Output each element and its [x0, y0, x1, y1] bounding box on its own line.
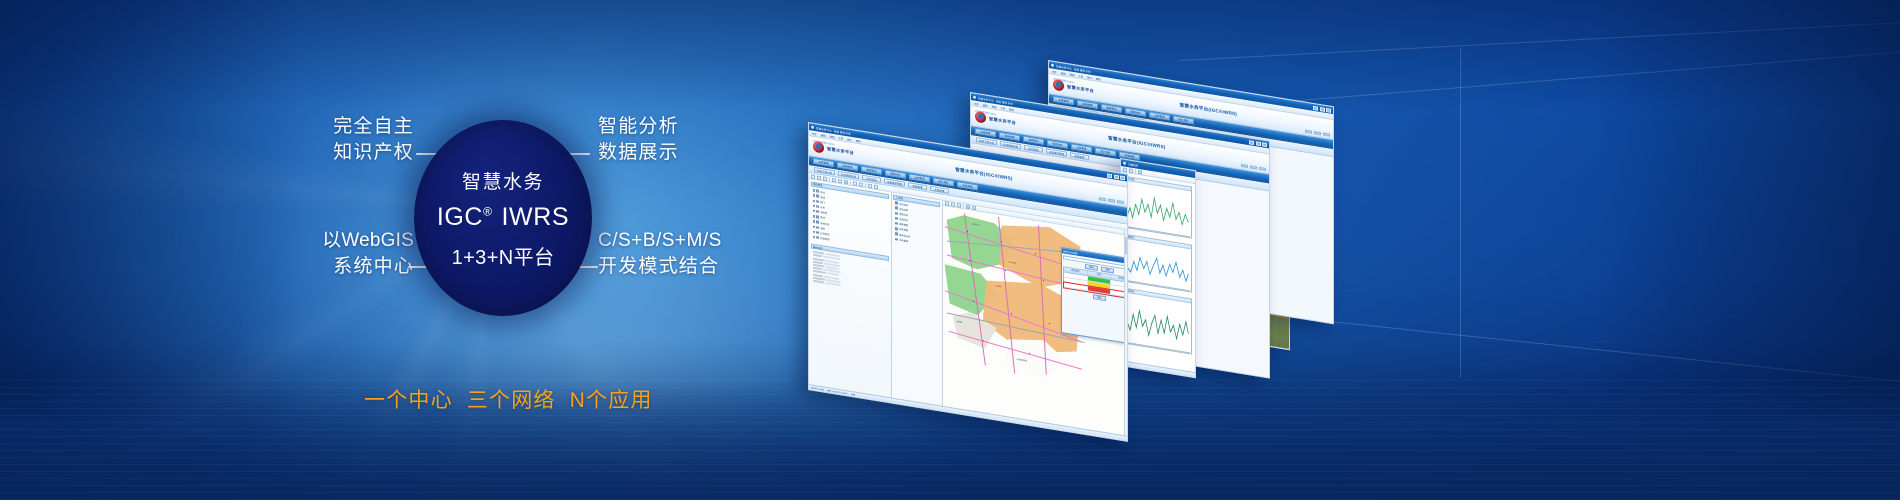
map-node[interactable] [969, 260, 970, 261]
quick-link-3[interactable] [1117, 200, 1124, 204]
layer-label: 道路 [820, 226, 825, 231]
feature-label-bottom-right-line1: C/S+B/S+M/S [598, 230, 722, 251]
expand-icon[interactable]: + [813, 215, 815, 218]
menu-item-window[interactable]: 窗口 [847, 137, 852, 142]
layer-swatch [816, 200, 819, 203]
maximize-icon[interactable] [1320, 106, 1325, 111]
quick-link-3[interactable] [1259, 167, 1266, 171]
tagline-part2: 三个网络 [467, 389, 556, 412]
refresh-icon[interactable] [1123, 167, 1127, 172]
platform-title: 智慧水务平台(IGC®IWRS) [955, 166, 1012, 181]
menu-item-help[interactable]: 帮助 [1096, 76, 1101, 81]
feature-label-bottom-left-line2: 系统中心 [286, 254, 414, 280]
expand-icon[interactable]: + [813, 236, 815, 239]
export-icon[interactable] [1138, 169, 1142, 174]
tagline: 一个中心三个网络N个应用 [364, 384, 653, 414]
menu-item-window[interactable]: 窗口 [1087, 75, 1092, 80]
layer-swatch [816, 231, 819, 234]
brand-code-iwrs: IWRS [502, 203, 570, 231]
map-node[interactable] [1049, 323, 1050, 324]
status-scale: 比例尺 1:5000 [811, 386, 824, 391]
expand-icon[interactable]: - [813, 189, 815, 192]
tool-icon [895, 217, 898, 220]
map-view[interactable]: 城东水厂 中心城区 工业园区 西环路 水源地保护区 爆管分析结果 × [943, 201, 1127, 442]
feature-label-top-right-line2: 数据展示 [598, 140, 679, 166]
quick-link-2[interactable] [1314, 131, 1321, 135]
platform-title: 智慧水务平台(IGC®IWRS) [1180, 102, 1237, 117]
tool-icon [895, 222, 898, 225]
platform-title-code: (IGC®IWRS) [984, 171, 1013, 181]
feature-label-bottom-right: C/S+B/S+M/S 开发模式结合 [598, 228, 722, 280]
toolbox-list[interactable]: 管点查询 管线追踪 爆管分析 连通分析 横断面图 纵断面图 缓冲区分析 空间量算 [893, 199, 940, 249]
quick-link-1[interactable] [1241, 164, 1248, 168]
quick-link-1[interactable] [1305, 130, 1312, 134]
map-pan-icon[interactable] [957, 203, 961, 208]
app-icon [811, 125, 814, 128]
brand-name-cn: 智慧水务 [462, 167, 544, 194]
menu-item-help[interactable]: 帮助 [856, 138, 861, 143]
map-highlight-icon[interactable] [972, 205, 976, 210]
redo-icon[interactable] [874, 184, 878, 189]
zoom-out-icon[interactable] [817, 175, 821, 180]
sparkline-3 [1127, 296, 1189, 352]
layer-label: 阀门 [820, 200, 825, 205]
menu-item-file[interactable]: 文件 [812, 131, 817, 136]
chart-quality-trend[interactable]: 属性信息 [1124, 288, 1192, 355]
menu-item-file[interactable]: 文件 [1052, 69, 1057, 74]
layer-swatch [816, 226, 819, 229]
tool-icon [895, 212, 898, 215]
brand-code-igc: IGC [437, 203, 483, 231]
menu-item-help[interactable]: 帮助 [1009, 107, 1014, 112]
map-node[interactable] [983, 340, 984, 341]
layer-label: 泵站 [820, 215, 825, 220]
map-label-westring: 西环路 [957, 320, 962, 324]
map-canvas[interactable]: 城东水厂 中心城区 工业园区 西环路 水源地保护区 爆管分析结果 × [943, 206, 1127, 442]
layer-swatch [816, 205, 819, 208]
layer-swatch [816, 195, 819, 198]
chart-quality-trend-plot [1125, 293, 1191, 354]
select-icon[interactable] [832, 177, 836, 182]
platform-title: 智慧水务平台(IGC®IWRS) [1108, 135, 1165, 150]
feature-label-top-left-line2: 知识产权 [298, 140, 414, 166]
brand-title-text: 智慧水务平台 [827, 146, 854, 156]
platform-title-name: 智慧水务平台 [955, 166, 984, 176]
tagline-part1: 一个中心 [364, 389, 453, 412]
expand-icon[interactable]: - [813, 220, 815, 223]
expand-icon[interactable]: + [813, 225, 815, 228]
layer-swatch [816, 210, 819, 213]
platform-title-code: (IGC®IWRS) [1208, 106, 1237, 116]
chart-window-statusbar: 就绪 [1121, 360, 1195, 377]
platform-title-name: 智慧水务平台 [1108, 135, 1137, 145]
confirm-button[interactable]: 确定 [1093, 294, 1106, 301]
layer-label: 水表 [820, 205, 825, 210]
undo-icon[interactable] [868, 183, 872, 188]
minimize-icon[interactable] [1107, 173, 1112, 178]
zoom-in-icon[interactable] [811, 174, 815, 179]
maximize-icon[interactable] [1114, 174, 1119, 179]
brand-code: IGC®IWRS [437, 203, 569, 232]
tool-icon [895, 227, 898, 230]
banner-root: 完全自主 知识产权 智能分析 数据展示 以WebGIS 系统中心 C/S+B/S… [0, 0, 1900, 500]
map-zoom-out-icon[interactable] [951, 202, 955, 207]
app-window-charts[interactable]: 流量趋势 瞬时流量 流量 [1120, 158, 1196, 378]
close-icon[interactable] [1326, 108, 1331, 113]
application-screenshot-stack: 智慧水务平台 [790, 50, 1350, 380]
brand-title-text: 智慧水务平台 [989, 116, 1016, 126]
tool-icon [895, 238, 898, 241]
print-icon[interactable] [1129, 168, 1133, 173]
platform-title-code: (IGC®IWRS) [1137, 140, 1166, 150]
map-node[interactable] [1029, 353, 1030, 354]
feature-label-top-right: 智能分析 数据展示 [598, 114, 679, 166]
identify-icon[interactable] [859, 182, 863, 187]
app-icon [973, 95, 976, 98]
minimize-icon[interactable] [1249, 140, 1254, 145]
feature-label-bottom-left: 以WebGIS 系统中心 [286, 228, 414, 280]
tool-label: 空间量算 [899, 238, 908, 243]
layer-swatch [816, 190, 819, 193]
feature-label-bottom-right-line2: 开发模式结合 [598, 254, 722, 280]
brand-quick-links[interactable] [1241, 164, 1266, 171]
maximize-icon[interactable] [1256, 141, 1261, 146]
map-node[interactable] [1001, 241, 1002, 242]
feature-label-top-right-line1: 智能分析 [598, 116, 679, 137]
menu-item-tools[interactable]: 工具 [1000, 105, 1005, 110]
quick-link-3[interactable] [1323, 133, 1330, 137]
sparkline-2 [1127, 242, 1189, 290]
status-ready: 就绪 [851, 392, 855, 396]
tagline-part3: N个应用 [570, 389, 653, 412]
feature-label-top-left-line1: 完全自主 [333, 116, 414, 137]
layer-swatch [816, 236, 819, 239]
measure-icon[interactable] [838, 178, 842, 183]
center-ellipse-badge: 智慧水务 IGC®IWRS 1+3+N平台 [414, 120, 592, 316]
layers-icon[interactable] [844, 179, 848, 184]
menu-item-edit[interactable]: 编辑 [983, 103, 988, 108]
menu-item-edit[interactable]: 编辑 [1061, 71, 1066, 76]
layer-swatch [816, 221, 819, 224]
map-node[interactable] [967, 231, 968, 232]
map-node[interactable] [1035, 253, 1036, 254]
menu-item-tools[interactable]: 工具 [1078, 73, 1083, 78]
tool-icon [895, 201, 898, 204]
app-window-front-gis[interactable]: 智慧水务平台 - 智能 管理 系统 文件 编辑 视图 工具 窗口 帮助 内部管理… [808, 122, 1128, 442]
quick-link-1[interactable] [1099, 197, 1106, 201]
analysis-dialog[interactable]: 爆管分析结果 × 查询 清除 [1061, 247, 1127, 346]
quick-link-2[interactable] [1108, 199, 1115, 203]
layer-label: 管线 [820, 195, 825, 200]
map-node[interactable] [1005, 270, 1006, 271]
expand-icon[interactable]: - [813, 194, 815, 197]
menu-item-tools[interactable]: 工具 [838, 135, 843, 140]
map-node[interactable] [973, 301, 974, 302]
layer-swatch [816, 216, 819, 219]
brand-quick-links[interactable] [1305, 130, 1330, 137]
expand-icon[interactable]: + [813, 231, 815, 234]
layer-label: 管点 [820, 189, 825, 194]
map-zoom-in-icon[interactable] [945, 201, 949, 206]
platform-formula: 1+3+N平台 [452, 241, 555, 270]
layer-label: 背景影像 [820, 236, 829, 241]
app-icon [1051, 63, 1054, 66]
quick-link-2[interactable] [1250, 165, 1257, 169]
close-icon[interactable] [1262, 142, 1267, 147]
menu-item-edit[interactable]: 编辑 [821, 133, 826, 138]
tool-icon [895, 233, 898, 236]
sparkline-1 [1127, 184, 1189, 236]
app-icon [1123, 161, 1126, 164]
concept-diagram: 完全自主 知识产权 智能分析 数据展示 以WebGIS 系统中心 C/S+B/S… [268, 96, 788, 426]
close-icon[interactable] [1120, 175, 1125, 180]
menu-item-view[interactable]: 视图 [1070, 72, 1075, 77]
map-identify-icon[interactable] [966, 205, 970, 210]
analysis-dialog-body: 查询 清除 管段编号 状态 影响用户 [1062, 253, 1127, 308]
platform-title-name: 智慧水务平台 [1180, 102, 1209, 112]
expand-icon[interactable]: + [813, 205, 815, 208]
print-icon[interactable] [853, 181, 857, 186]
layer-label: 消防栓 [820, 210, 827, 215]
registered-mark-icon: ® [483, 204, 492, 218]
chart-flow-trend[interactable]: 瞬时流量 [1124, 176, 1192, 239]
map-node[interactable] [1043, 280, 1044, 281]
menu-item-view[interactable]: 视图 [992, 104, 997, 109]
menu-item-view[interactable]: 视图 [830, 134, 835, 139]
feature-label-top-left: 完全自主 知识产权 [298, 114, 414, 166]
chart-flow-trend-plot [1125, 181, 1191, 238]
map-node[interactable] [1011, 313, 1012, 314]
map-vertical-scrollbar[interactable] [1124, 230, 1127, 442]
feature-label-bottom-left-line1: 以WebGIS [322, 230, 414, 251]
tool-icon [895, 207, 898, 210]
minimize-icon[interactable] [1313, 105, 1318, 110]
expand-icon[interactable]: + [813, 199, 815, 202]
expand-icon[interactable]: + [813, 210, 815, 213]
pan-icon[interactable] [823, 176, 827, 181]
chart-pressure-trend[interactable]: 流量趋势 [1124, 234, 1192, 293]
brand-quick-links[interactable] [1099, 197, 1124, 204]
menu-item-file[interactable]: 文件 [974, 101, 979, 106]
brand-title-text: 智慧水务平台 [1067, 84, 1094, 94]
